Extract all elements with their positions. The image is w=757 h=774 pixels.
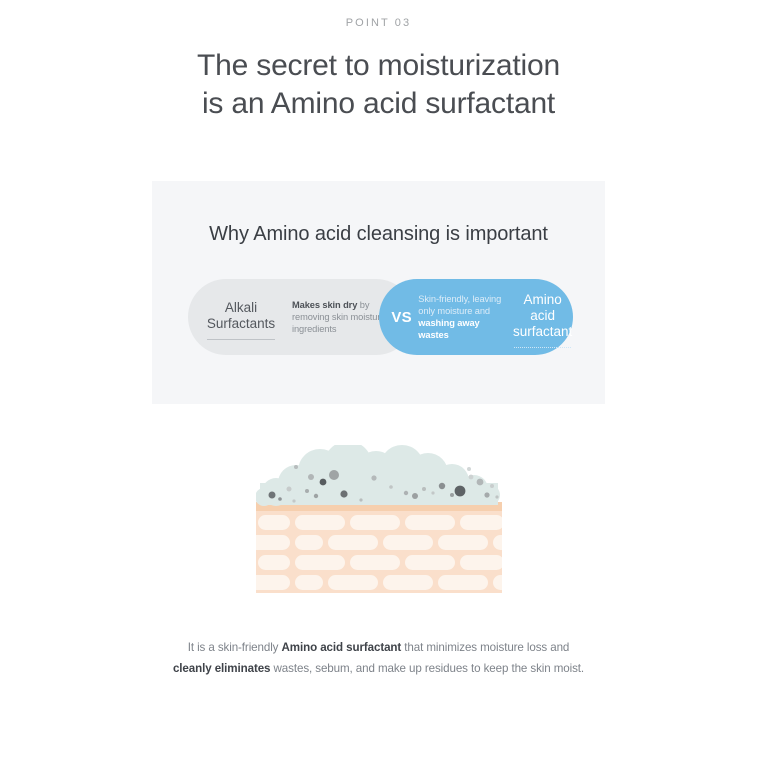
alkali-pill-title-line-1: Alkali (198, 300, 284, 316)
caption-line1-bold: Amino acid surfactant (282, 641, 402, 654)
page-title-line-2: is an Amino acid surfactant (0, 85, 757, 123)
comparison-panel-title: Why Amino acid cleansing is important (152, 223, 605, 246)
amino-pill-title-line-2: surfactant (512, 324, 573, 340)
point-eyebrow-label: POINT 03 (0, 17, 757, 29)
amino-pill-description: Skin-friendly, leaving only moisture and… (418, 293, 508, 342)
amino-pill-title: Amino acid surfactant (512, 292, 573, 342)
caption-line2-bold: cleanly eliminates (173, 662, 270, 675)
alkali-pill-title-line-2: Surfactants (198, 316, 284, 332)
bottom-caption-line-2: cleanly eliminates wastes, sebum, and ma… (0, 658, 757, 679)
alkali-pill-description-bold: Makes skin dry (292, 300, 357, 310)
page-title: The secret to moisturization is an Amino… (0, 47, 757, 123)
caption-line1-pre: It is a skin-friendly (188, 641, 282, 654)
amino-acid-surfactant-pill: VS Skin-friendly, leaving only moisture … (379, 279, 573, 355)
bottom-caption: It is a skin-friendly Amino acid surfact… (0, 637, 757, 679)
vs-label: VS (385, 309, 418, 326)
bottom-caption-line-1: It is a skin-friendly Amino acid surfact… (0, 637, 757, 658)
amino-pill-title-line-1: Amino acid (512, 292, 573, 324)
amino-pill-description-regular: Skin-friendly, leaving only moisture and (418, 294, 501, 316)
amino-pill-description-bold: washing away wastes (418, 318, 479, 340)
foam-cloud-graphic (256, 445, 500, 506)
alkali-pill-title: Alkali Surfactants (198, 300, 284, 334)
foam-over-skin-wall-illustration (256, 445, 502, 593)
comparison-panel: Why Amino acid cleansing is important Al… (152, 181, 605, 404)
comparison-pills: Alkali Surfactants Makes skin dry by rem… (152, 279, 605, 369)
amino-pill-underline (514, 347, 571, 348)
caption-line2-post: wastes, sebum, and make up residues to k… (270, 662, 584, 675)
skin-wall-graphic (256, 502, 502, 593)
caption-line1-post: that minimizes moisture loss and (401, 641, 569, 654)
page-title-line-1: The secret to moisturization (0, 47, 757, 85)
alkali-pill-underline (207, 339, 275, 340)
